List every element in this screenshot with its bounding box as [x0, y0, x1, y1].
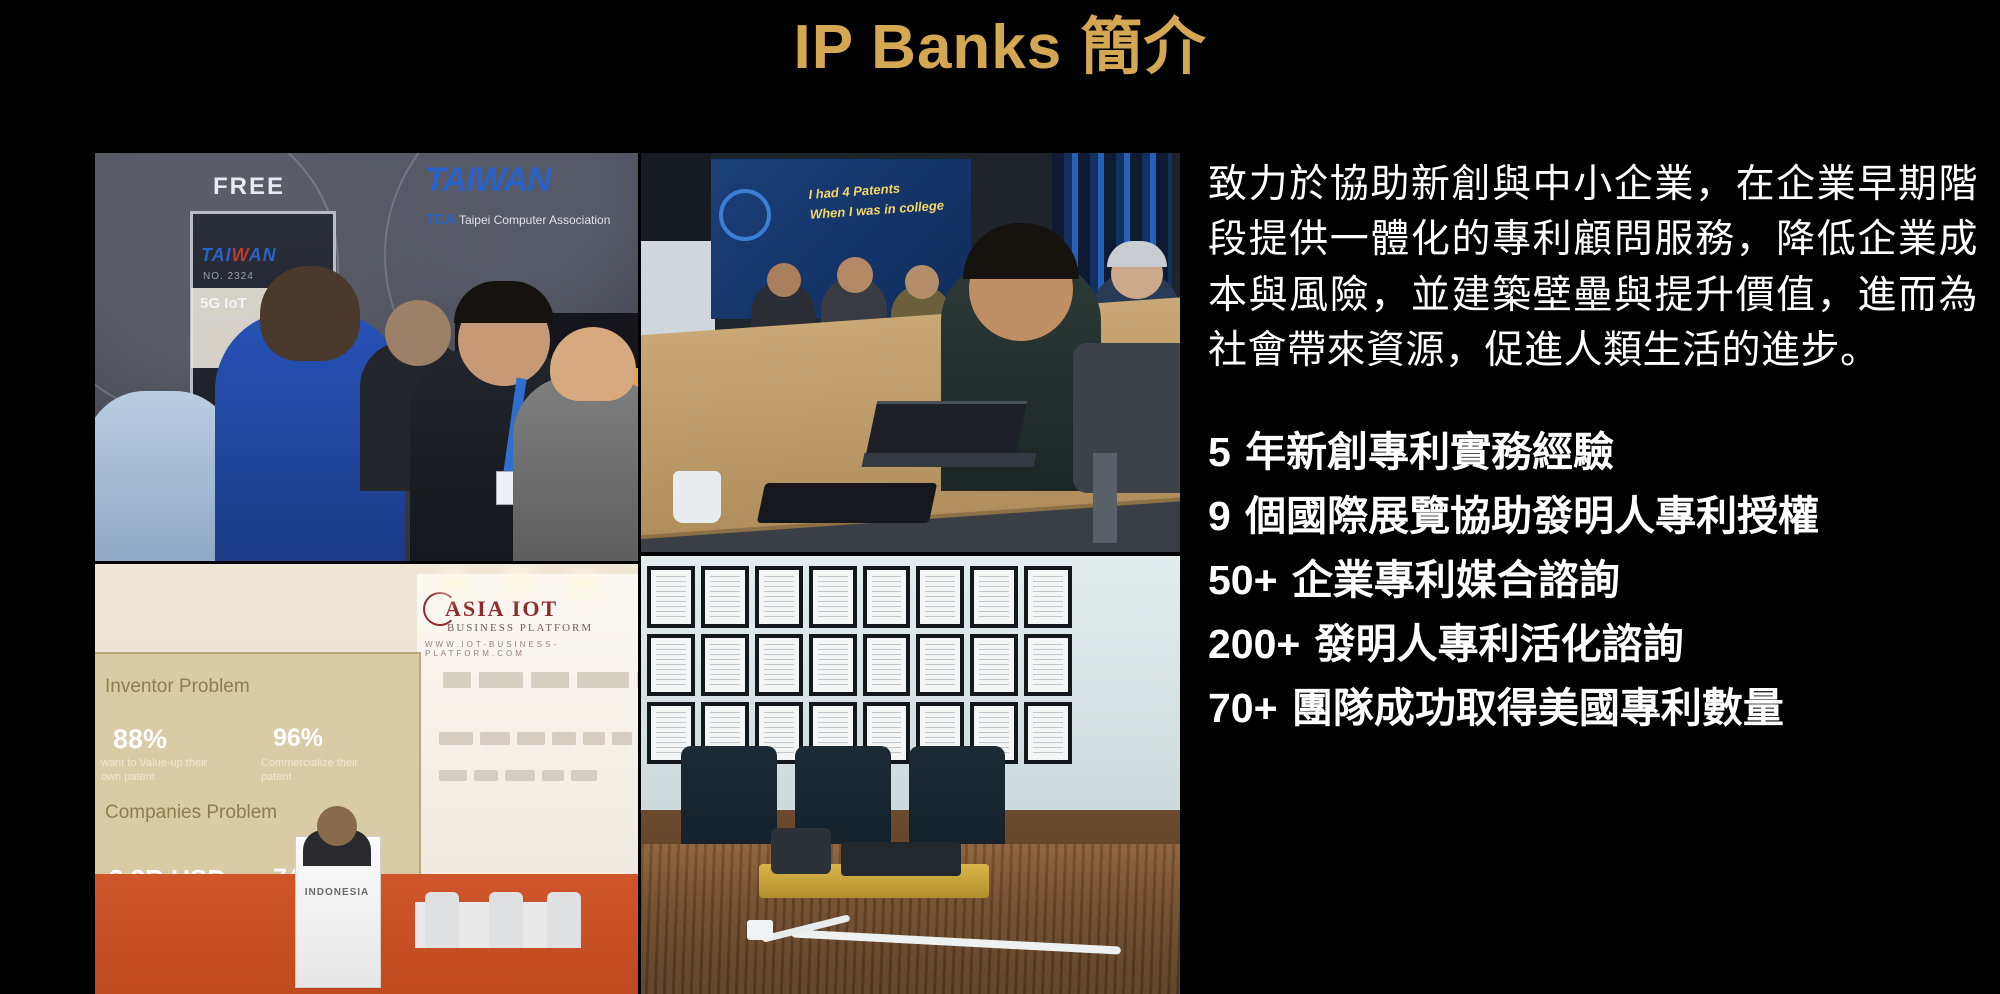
sponsor-logo [612, 732, 632, 745]
seated-person-head [767, 263, 801, 297]
sponsor-logo [552, 732, 576, 745]
laptop-base [862, 453, 1037, 467]
stats-list: 5 年新創專利實務經驗 9 個國際展覽協助發明人專利授權 50+ 企業專利媒合諮… [1208, 432, 1998, 752]
photo-collage: TAIWAN TCA Taipei Computer Association F… [95, 153, 1180, 994]
stat-label: 團隊成功取得美國專利數量 [1292, 684, 1784, 732]
panel-chair [547, 892, 581, 948]
sponsor-logo [474, 770, 498, 781]
patent-frame [701, 634, 749, 696]
stat-number: 5 [1208, 429, 1231, 475]
patent-frame [647, 566, 695, 628]
patent-frame [970, 566, 1018, 628]
stat-number: 70+ [1208, 685, 1278, 731]
seated-person-head [905, 265, 939, 299]
tca-label: TCA Taipei Computer Association [425, 211, 610, 228]
free-sign: FREE [213, 173, 285, 201]
patent-frame [755, 634, 803, 696]
description-block: 致力於協助新創與中小企業，在企業早期階段提供一體化的專利顧問服務，降低企業成本與… [1208, 118, 1978, 418]
slide-stat-value: 96% [273, 724, 323, 753]
power-plug [747, 920, 773, 940]
event-url: WWW.IOT-BUSINESS-PLATFORM.COM [425, 640, 638, 658]
stat-item: 70+ 團隊成功取得美國專利數量 [1208, 688, 1998, 729]
photo-patent-wall [641, 556, 1180, 994]
slide-heading: Companies Problem [105, 802, 277, 824]
sponsor-logo [439, 732, 473, 745]
presentation-slide: IP Banks 簡介 TAIWAN TCA Taipei Computer A… [0, 0, 2000, 994]
sponsor-logo [577, 672, 629, 688]
spotlight [511, 574, 527, 584]
leather-chair [909, 746, 1005, 854]
patent-frame [809, 634, 857, 696]
stat-number: 50+ [1208, 557, 1278, 603]
photo-expo-booth: TAIWAN TCA Taipei Computer Association F… [95, 153, 638, 561]
device-unit [771, 828, 831, 874]
attendee-figure [95, 391, 235, 561]
taiwan-logo-large: TAIWAN [425, 161, 551, 200]
patent-frame [755, 566, 803, 628]
chair-row [681, 746, 1005, 854]
device-unit [841, 842, 961, 876]
sponsor-logo [439, 770, 467, 781]
stat-item: 200+ 發明人專利活化諮詢 [1208, 624, 1998, 665]
title-chinese: 簡介 [1081, 10, 1207, 83]
open-laptop [865, 401, 1028, 460]
stat-item: 9 個國際展覽協助發明人專利授權 [1208, 496, 1998, 537]
slide-stat-note: Commercialize their patent [261, 756, 381, 785]
whiteboard [641, 241, 715, 337]
patent-frame [647, 634, 695, 696]
patent-frame [916, 566, 964, 628]
sponsor-logo [637, 672, 638, 688]
coffee-cup [673, 471, 721, 523]
event-title: ASIA IOT [445, 596, 558, 622]
patent-frame-grid [647, 566, 1072, 764]
description-paragraph: 致力於協助新創與中小企業，在企業早期階段提供一體化的專利顧問服務，降低企業成本與… [1208, 157, 1978, 379]
product-subtitle: Utility Patent [200, 313, 251, 323]
sponsor-logo [531, 672, 569, 688]
office-chair-base [1093, 453, 1117, 543]
slide-logo-icon [719, 189, 771, 241]
event-subtitle: BUSINESS PLATFORM [447, 622, 593, 634]
panel-chair [489, 892, 523, 948]
patent-frame [1024, 702, 1072, 764]
booth-number: NO. 2324 [203, 271, 254, 282]
closed-laptop [757, 483, 938, 523]
spotlight [445, 578, 461, 588]
page-title: IP Banks 簡介 [0, 8, 2000, 87]
patent-frame [863, 566, 911, 628]
stat-label: 企業專利媒合諮詢 [1292, 556, 1620, 604]
sponsor-logo [479, 672, 523, 688]
slide-stat-value: 88% [113, 724, 167, 755]
podium-label: INDONESIA [301, 887, 373, 898]
patent-frame [1024, 634, 1072, 696]
patent-frame [863, 634, 911, 696]
patent-frame [809, 566, 857, 628]
patent-frame [916, 634, 964, 696]
photo-conference-stage: ASIA IOT BUSINESS PLATFORM WWW.IOT-BUSIN… [95, 564, 638, 994]
sponsor-logo-row [439, 770, 597, 781]
sponsor-logo-row [443, 672, 638, 688]
stat-item: 50+ 企業專利媒合諮詢 [1208, 560, 1998, 601]
tca-full: Taipei Computer Association [459, 213, 610, 227]
sponsor-logo [517, 732, 545, 745]
speaker-head [317, 806, 357, 846]
tca-short: TCA [425, 211, 456, 228]
office-chair [1073, 343, 1180, 493]
leather-chair [681, 746, 777, 854]
stat-label: 年新創專利實務經驗 [1245, 428, 1614, 476]
slide-heading: Inventor Problem [105, 676, 250, 698]
seated-person-head [837, 257, 873, 293]
sponsor-logo [583, 732, 605, 745]
stat-number: 9 [1208, 493, 1231, 539]
slide-stat-note: want to Value-up their own patent [101, 756, 221, 785]
sponsor-logo [480, 732, 510, 745]
product-title: 5G IoT [200, 295, 247, 312]
taiwan-logo-small: TAIWAN [201, 245, 277, 266]
attendee-head [385, 300, 451, 366]
patent-frame [1024, 566, 1072, 628]
photo-meeting-room: I had 4 Patents When I was in college [641, 153, 1180, 552]
sponsor-logo [505, 770, 535, 781]
stat-label: 發明人專利活化諮詢 [1315, 620, 1684, 668]
title-english: IP Banks [793, 13, 1062, 82]
stat-item: 5 年新創專利實務經驗 [1208, 432, 1998, 473]
attendee-figure [513, 376, 638, 561]
sponsor-logo [571, 770, 597, 781]
stat-label: 個國際展覽協助發明人專利授權 [1245, 492, 1819, 540]
sponsor-logo [542, 770, 564, 781]
spotlight [575, 578, 591, 588]
patent-frame [970, 634, 1018, 696]
sponsor-logo [443, 672, 471, 688]
panel-chair [425, 892, 459, 948]
attendee-head [260, 266, 360, 361]
patent-frame [701, 566, 749, 628]
sponsor-logo-row [439, 732, 638, 745]
stat-number: 200+ [1208, 621, 1300, 667]
